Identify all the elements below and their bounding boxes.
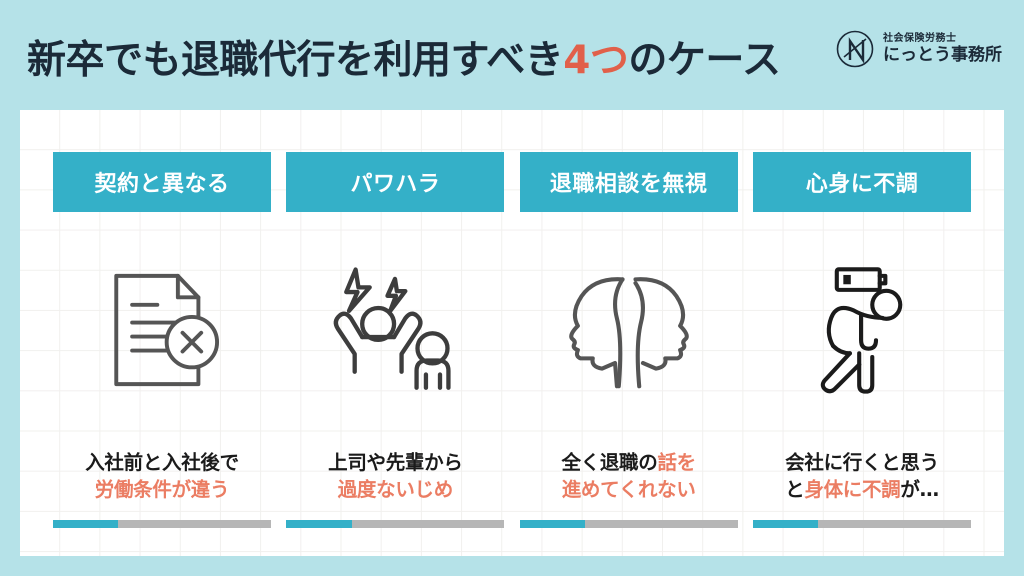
logo-name: にっとう事務所 [883, 47, 1002, 64]
card-header-1: 契約と異なる [53, 152, 271, 212]
page-title-prefix: 新卒でも退職代行を利用すべき [27, 38, 563, 83]
caption-4-line2-tail: が… [900, 478, 938, 501]
caption-4-line2-accent: 身体に不調 [804, 478, 900, 501]
exhausted-person-low-battery-icon [753, 212, 971, 449]
card-caption-3: 全く退職の話を 進めてくれない [561, 449, 695, 504]
progress-bar-4 [753, 520, 971, 528]
angry-person-lightning-icon [286, 212, 504, 449]
progress-fill-4 [753, 520, 818, 528]
brand-logo: 社会保険労務士 にっとう事務所 [833, 27, 1002, 71]
page-title-accent: 4つ [563, 38, 628, 83]
progress-fill-2 [286, 520, 351, 528]
card-header-4: 心身に不調 [753, 152, 971, 212]
case-card-2[interactable]: パワハラ 上司や先輩から 過度ないじめ [286, 152, 504, 528]
caption-4-line2-dark: と [785, 478, 804, 501]
case-card-3[interactable]: 退職相談を無視 全く退職の話を 進めてくれない [520, 152, 738, 528]
document-with-x-icon [53, 212, 271, 449]
progress-bar-1 [53, 520, 271, 528]
caption-1-line1-dark: 入社前と入社後で [85, 451, 239, 474]
card-caption-4: 会社に行くと思う と身体に不調が… [785, 449, 939, 504]
caption-3-line2-accent: 進めてくれない [562, 478, 696, 501]
caption-2-line1-dark: 上司や先輩から [328, 451, 462, 474]
card-header-3: 退職相談を無視 [520, 152, 738, 212]
card-list: 契約と異なる 入社前と入社後で 労働条件が違う [20, 110, 1004, 556]
card-caption-2: 上司や先輩から 過度ないじめ [328, 449, 462, 504]
caption-3-line1-accent: 話を [657, 451, 695, 474]
case-card-4[interactable]: 心身に不調 会社に行くと思う と身体に不調が… [753, 152, 971, 528]
page-title: 新卒でも退職代行を利用すべき4つのケース [27, 29, 780, 85]
circle-n-monogram-icon [833, 27, 877, 71]
logo-subtitle: 社会保険労務士 [883, 34, 1002, 44]
progress-bar-2 [286, 520, 504, 528]
caption-3-line1-dark: 全く退職の [561, 451, 657, 474]
caption-2-line2-accent: 過度ないじめ [338, 478, 453, 501]
progress-bar-3 [520, 520, 738, 528]
page-title-suffix: のケース [628, 38, 780, 83]
header-bar: 新卒でも退職代行を利用すべき4つのケース 社会保険労務士 にっとう事務所 [0, 0, 1024, 110]
card-caption-1: 入社前と入社後で 労働条件が違う [85, 449, 239, 504]
progress-fill-3 [520, 520, 585, 528]
caption-4-line1-dark: 会社に行くと思う [785, 451, 939, 474]
two-head-profiles-icon [520, 212, 738, 449]
progress-fill-1 [53, 520, 118, 528]
caption-1-line2-accent: 労働条件が違う [95, 478, 229, 501]
content-panel: 契約と異なる 入社前と入社後で 労働条件が違う [20, 110, 1004, 556]
card-header-2: パワハラ [286, 152, 504, 212]
case-card-1[interactable]: 契約と異なる 入社前と入社後で 労働条件が違う [53, 152, 271, 528]
